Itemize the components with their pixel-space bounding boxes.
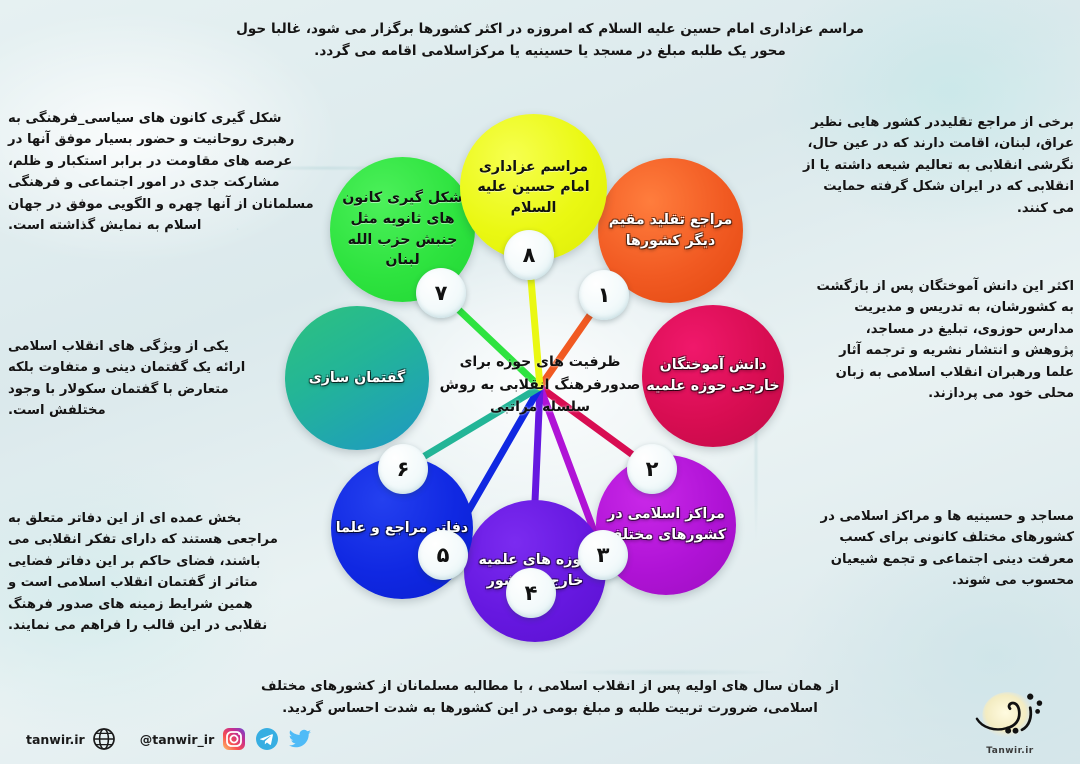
social-handle: @tanwir_ir [140, 732, 215, 747]
petal-label: گفتمان سازی [309, 368, 406, 389]
petal-label: مراجع تقلید مقیم دیگر کشورها [602, 210, 739, 251]
logo-caption: Tanwir.ir [986, 746, 1033, 756]
petal-label: مراسم عزاداری امام حسین علیه السلام [464, 157, 603, 219]
telegram-icon[interactable] [254, 726, 280, 752]
center-title: ظرفیت های حوزه برای صدورفرهنگ انقلابی به… [436, 315, 644, 455]
social-links: @tanwir_ir tanwir.ir [22, 726, 313, 752]
footer-bar: @tanwir_ir tanwir.ir [0, 706, 1080, 764]
left-text-block-3: بخش عمده ای از این دفاتر متعلق به مراجعی… [8, 508, 296, 636]
petal-danesh-amookhtegan[interactable]: دانش آموختگان خارجی حوزه علمیه [642, 305, 784, 447]
number-label: ۴ [525, 581, 538, 605]
number-bubble-8[interactable]: ۸ [504, 230, 554, 280]
number-bubble-7[interactable]: ۷ [416, 268, 466, 318]
number-label: ۸ [523, 243, 536, 267]
number-label: ۵ [437, 543, 450, 567]
right-text-block-2: اکثر این دانش آموختگان پس از بازگشت به ک… [814, 276, 1074, 404]
number-bubble-1[interactable]: ۱ [579, 270, 629, 320]
brand-logo[interactable]: Tanwir.ir [962, 678, 1058, 756]
website-label: tanwir.ir [26, 732, 85, 747]
number-label: ۱ [598, 283, 611, 307]
number-label: ۳ [597, 543, 610, 567]
right-text-block-3: مساجد و حسینیه ها و مراکز اسلامی در کشور… [816, 506, 1074, 592]
number-bubble-6[interactable]: ۶ [378, 444, 428, 494]
number-label: ۲ [646, 457, 659, 481]
petal-label: دانش آموختگان خارجی حوزه علمیه [646, 355, 780, 396]
right-text-block-1: برخی از مراجع تقلیددر کشور هایی نظیر عرا… [802, 112, 1074, 219]
top-paragraph: مراسم عزاداری امام حسین علیه السلام که ا… [218, 18, 882, 62]
twitter-icon[interactable] [287, 726, 313, 752]
instagram-icon[interactable] [221, 726, 247, 752]
number-label: ۶ [397, 457, 410, 481]
tanwir-logo-mark [964, 687, 1056, 745]
number-bubble-5[interactable]: ۵ [418, 530, 468, 580]
website-link[interactable]: tanwir.ir [26, 726, 117, 752]
number-bubble-3[interactable]: ۳ [578, 530, 628, 580]
petal-label: شکل گیری کانون های ثانویه مثل جنبش حزب ا… [334, 188, 471, 270]
left-text-block-2: یکی از ویژگی های انقلاب اسلامی ارائه یک … [8, 336, 260, 422]
petal-goftemansazi[interactable]: گفتمان سازی [285, 306, 429, 450]
globe-icon [91, 726, 117, 752]
flower-diagram: مراجع تقلید مقیم دیگر کشورها دانش آموختگ… [268, 100, 812, 674]
number-bubble-4[interactable]: ۴ [506, 568, 556, 618]
number-label: ۷ [435, 281, 448, 305]
